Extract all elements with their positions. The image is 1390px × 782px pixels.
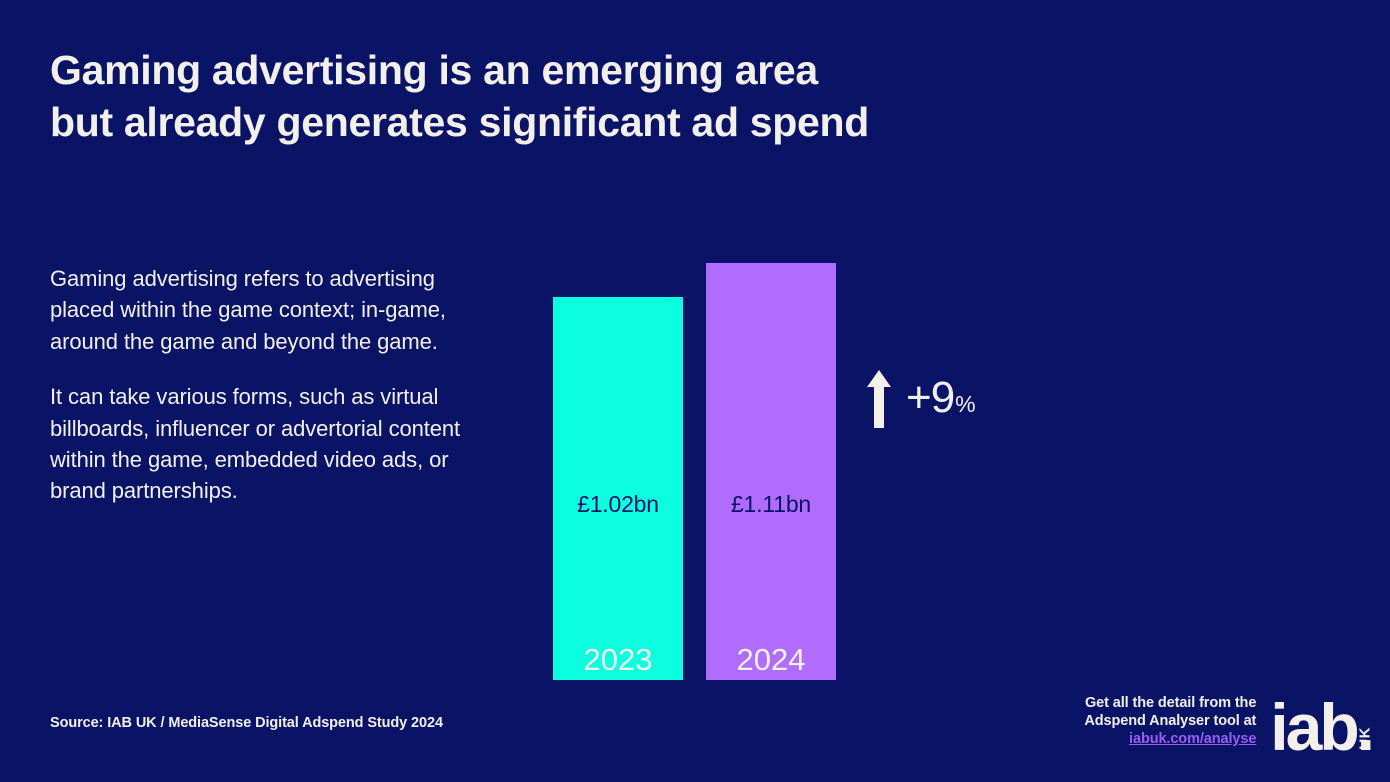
slide-canvas: Gaming advertising is an emerging area b… (0, 0, 1390, 782)
x-axis-label-2024: 2024 (706, 642, 836, 678)
page-title-line-1: Gaming advertising is an emerging area (50, 44, 950, 96)
body-paragraph-1: Gaming advertising refers to advertising… (50, 263, 480, 357)
footer-link[interactable]: iabuk.com/analyse (1084, 730, 1256, 748)
bar-value-2024: £1.11bn (706, 491, 836, 518)
logo-uk-suffix: UK (1357, 727, 1374, 750)
x-axis-label-2023: 2023 (553, 642, 683, 678)
footer-cta-line-1: Get all the detail from the (1084, 694, 1256, 712)
body-paragraph-2: It can take various forms, such as virtu… (50, 381, 480, 507)
growth-value-group: +9 % (906, 376, 976, 420)
body-copy: Gaming advertising refers to advertising… (50, 263, 480, 507)
growth-value: +9 (906, 376, 954, 420)
bar-2023: £1.02bn (553, 297, 683, 680)
footer-brand: Get all the detail from the Adspend Anal… (1084, 694, 1372, 754)
footer-cta: Get all the detail from the Adspend Anal… (1084, 694, 1256, 748)
bar-2024: £1.11bn (706, 263, 836, 680)
growth-unit: % (955, 393, 975, 416)
arrow-up-icon (866, 370, 892, 428)
bar-value-2023: £1.02bn (553, 491, 683, 518)
footer-cta-line-2: Adspend Analyser tool at (1084, 712, 1256, 730)
iab-uk-logo[interactable]: iab. UK (1270, 700, 1372, 754)
page-title-line-2: but already generates significant ad spe… (50, 96, 950, 148)
source-note: Source: IAB UK / MediaSense Digital Adsp… (50, 715, 443, 731)
page-title: Gaming advertising is an emerging area b… (50, 44, 950, 148)
growth-indicator: +9 % (866, 368, 976, 428)
